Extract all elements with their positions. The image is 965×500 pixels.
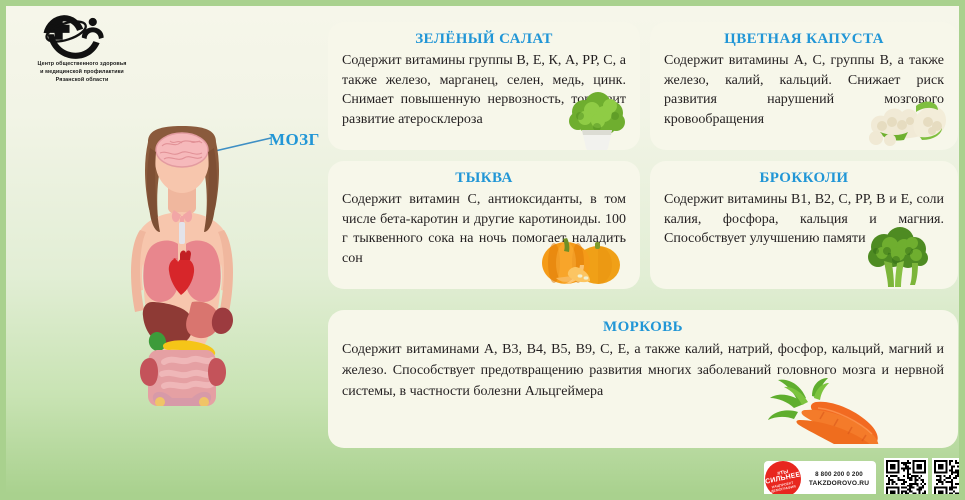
- card-text: Содержит витамины В1, В2, С, РР, В и Е, …: [664, 190, 944, 249]
- card-pumpkin[interactable]: ТЫКВА Содержит витамин С, антиоксиданты,…: [328, 161, 640, 289]
- brain-callout-label: МОЗГ: [269, 130, 320, 150]
- card-title: ТЫКВА: [342, 169, 626, 187]
- logo-line-1: Центр общественного здоровья: [12, 60, 152, 68]
- contact-text: 8 800 200 0 200 TAKZDOROVO.RU: [804, 470, 874, 488]
- card-text: Содержит витаминами А, В3, В4, В5, В9, С…: [342, 339, 944, 402]
- card-title: ЦВЕТНАЯ КАПУСТА: [664, 30, 944, 48]
- health-center-logo: Центр общественного здоровья и медицинск…: [12, 8, 152, 94]
- female-anatomy-illustration: [102, 126, 262, 406]
- anatomy-svg: [102, 126, 262, 406]
- ty-silnee-logo: #ТЫ СИЛЬНЕЕ НАЦПРОЕКТ ДЕМОГРАФИЯ: [765, 461, 801, 497]
- card-cauliflower[interactable]: ЦВЕТНАЯ КАПУСТА Содержит витамины А, С, …: [650, 22, 958, 150]
- card-title: МОРКОВЬ: [342, 318, 944, 336]
- card-green-salad[interactable]: ЗЕЛЁНЫЙ САЛАТ Содержит витамины группы В…: [328, 22, 640, 150]
- card-title: ЗЕЛЁНЫЙ САЛАТ: [342, 30, 626, 48]
- qr-code-1[interactable]: [884, 458, 928, 500]
- poster-root: Центр общественного здоровья и медицинск…: [0, 0, 965, 500]
- card-broccoli[interactable]: БРОККОЛИ Содержит витамины В1, В2, С, РР…: [650, 161, 958, 289]
- card-text: Содержит витамины А, С, группы В, а такж…: [664, 51, 944, 129]
- brain-organ: [156, 133, 208, 167]
- logo-text: Центр общественного здоровья и медицинск…: [12, 60, 152, 85]
- website-url: TAKZDOROVO.RU: [804, 479, 874, 488]
- logo-line-2: и медицинской профилактики: [12, 68, 152, 76]
- logo-mark: [34, 12, 116, 62]
- card-carrot[interactable]: МОРКОВЬ Содержит витаминами А, В3, В4, В…: [328, 310, 958, 448]
- qr-code-2[interactable]: [932, 458, 965, 500]
- hotline-phone: 8 800 200 0 200: [804, 470, 874, 479]
- takzdorovo-badge[interactable]: #ТЫ СИЛЬНЕЕ НАЦПРОЕКТ ДЕМОГРАФИЯ 8 800 2…: [764, 461, 876, 497]
- logo-line-3: Рязанской области: [12, 76, 152, 84]
- footer-contacts: #ТЫ СИЛЬНЕЕ НАЦПРОЕКТ ДЕМОГРАФИЯ 8 800 2…: [764, 458, 965, 500]
- card-text: Содержит витамины группы В, Е, К, А, РР,…: [342, 51, 626, 129]
- card-text: Содержит витамин С, антиоксиданты, в том…: [342, 190, 626, 268]
- card-title: БРОККОЛИ: [664, 169, 944, 187]
